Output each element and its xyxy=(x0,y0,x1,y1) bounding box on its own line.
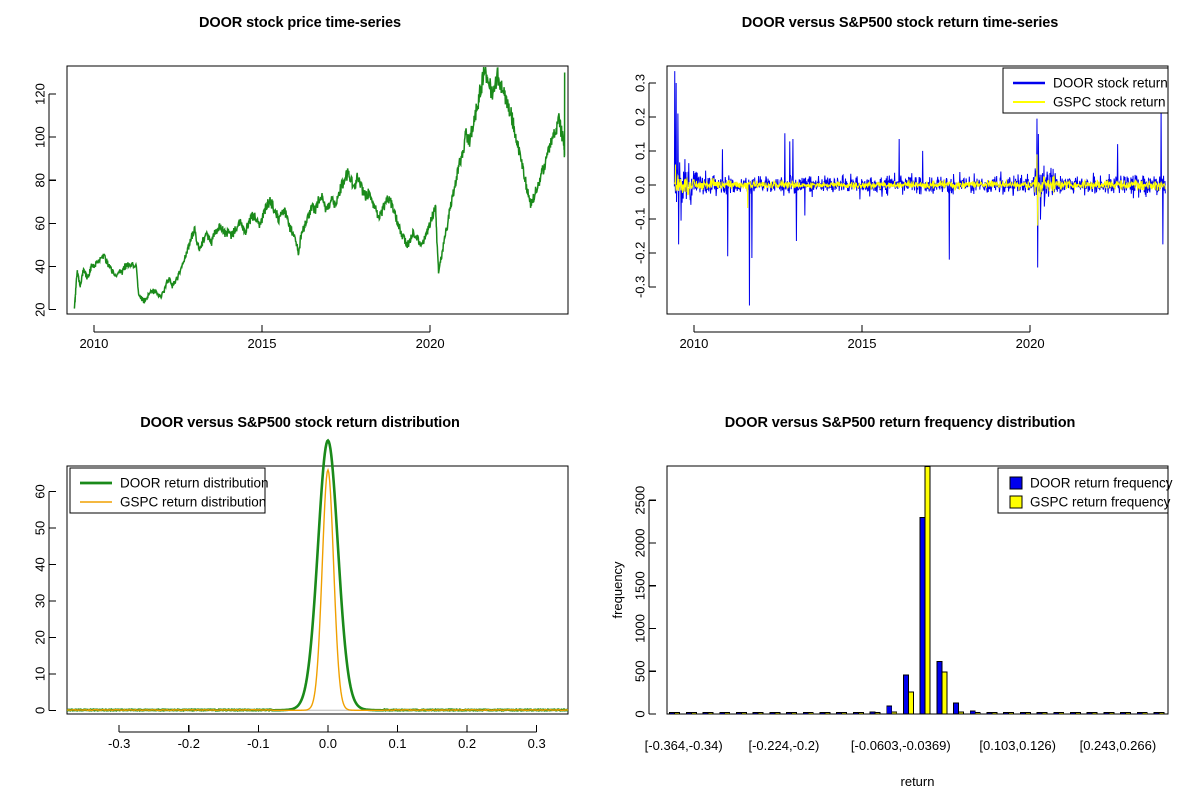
x-tick-label: [0.243,0.266) xyxy=(1080,738,1157,753)
chart-door-price-timeseries: 20406080100120201020152020 xyxy=(0,0,600,400)
y-tick-label: 60 xyxy=(33,484,48,498)
legend-label: GSPC return distribution xyxy=(120,495,266,510)
x-tick-label: 0.1 xyxy=(388,736,406,751)
histogram-bar xyxy=(887,706,892,714)
chart-door-vs-sp500-return-timeseries: -0.3-0.2-0.10.00.10.20.3201020152020DOOR… xyxy=(600,0,1200,400)
legend-label: GSPC stock return xyxy=(1053,95,1166,110)
y-tick-label: 0.1 xyxy=(633,142,648,160)
histogram-bar xyxy=(942,672,947,714)
panel-door-price-timeseries: DOOR stock price time-series 20406080100… xyxy=(0,0,600,400)
x-axis-title: return xyxy=(901,774,935,789)
y-tick-label: 100 xyxy=(33,126,48,148)
x-tick-label: 2020 xyxy=(1016,336,1045,351)
x-tick-label: 2010 xyxy=(79,336,108,351)
figure-canvas: DOOR stock price time-series 20406080100… xyxy=(0,0,1200,800)
y-tick-label: 1000 xyxy=(633,614,648,643)
x-tick-label: 0.2 xyxy=(458,736,476,751)
y-tick-label: 60 xyxy=(33,216,48,230)
x-tick-label: 0.0 xyxy=(319,736,337,751)
panel-door-vs-sp500-return-frequency-distribution: DOOR versus S&P500 return frequency dist… xyxy=(600,400,1200,800)
x-tick-label: 2015 xyxy=(848,336,877,351)
x-tick-label: -0.3 xyxy=(108,736,130,751)
x-tick-label: [0.103,0.126) xyxy=(979,738,1056,753)
x-tick-label: [-0.224,-0.2) xyxy=(748,738,819,753)
x-tick-label: 2015 xyxy=(248,336,277,351)
legend-label: DOOR return distribution xyxy=(120,476,269,491)
panel-door-vs-sp500-return-distribution: DOOR versus S&P500 stock return distribu… xyxy=(0,400,600,800)
y-tick-label: 0 xyxy=(33,707,48,714)
chart-door-vs-sp500-return-distribution: 0102030405060-0.3-0.2-0.10.00.10.20.3DOO… xyxy=(0,400,600,800)
legend-label: DOOR stock return xyxy=(1053,76,1168,91)
chart-door-vs-sp500-return-frequency-distribution: 05001000150020002500[-0.364,-0.34)[-0.22… xyxy=(600,400,1200,800)
y-tick-label: 0.2 xyxy=(633,108,648,126)
y-tick-label: 20 xyxy=(33,630,48,644)
histogram-bar xyxy=(920,517,925,714)
y-tick-label: 30 xyxy=(33,594,48,608)
histogram-bar xyxy=(925,466,930,714)
y-tick-label: 40 xyxy=(33,557,48,571)
plot-frame xyxy=(67,66,568,314)
y-tick-label: -0.2 xyxy=(633,242,648,264)
histogram-bar xyxy=(903,675,908,714)
x-tick-label: -0.2 xyxy=(178,736,200,751)
y-tick-label: -0.3 xyxy=(633,276,648,298)
legend-label: DOOR return frequency xyxy=(1030,476,1173,491)
y-tick-label: 50 xyxy=(33,521,48,535)
x-tick-label: -0.1 xyxy=(247,736,269,751)
y-tick-label: 0 xyxy=(633,710,648,717)
histogram-bar xyxy=(954,703,959,714)
x-tick-label: 2010 xyxy=(679,336,708,351)
legend-swatch xyxy=(1010,477,1022,489)
y-tick-label: 1500 xyxy=(633,571,648,600)
legend-swatch xyxy=(1010,496,1022,508)
y-tick-label: 0.0 xyxy=(633,176,648,194)
x-tick-label: [-0.0603,-0.0369) xyxy=(851,738,951,753)
y-tick-label: 20 xyxy=(33,302,48,316)
histogram-bar xyxy=(937,661,942,714)
y-tick-label: 2500 xyxy=(633,486,648,515)
y-axis-title: frequency xyxy=(610,561,625,619)
y-tick-label: 120 xyxy=(33,83,48,105)
y-tick-label: -0.1 xyxy=(633,208,648,230)
x-tick-label: [-0.364,-0.34) xyxy=(645,738,723,753)
x-tick-label: 0.3 xyxy=(528,736,546,751)
y-tick-label: 0.3 xyxy=(633,74,648,92)
legend-label: GSPC return frequency xyxy=(1030,495,1171,510)
line-door-stock-price xyxy=(74,67,564,308)
y-tick-label: 2000 xyxy=(633,529,648,558)
x-tick-label: 2020 xyxy=(416,336,445,351)
y-tick-label: 40 xyxy=(33,259,48,273)
y-tick-label: 80 xyxy=(33,173,48,187)
y-tick-label: 10 xyxy=(33,667,48,681)
y-tick-label: 500 xyxy=(633,660,648,682)
histogram-bar xyxy=(908,692,913,714)
panel-door-vs-sp500-return-timeseries: DOOR versus S&P500 stock return time-ser… xyxy=(600,0,1200,400)
